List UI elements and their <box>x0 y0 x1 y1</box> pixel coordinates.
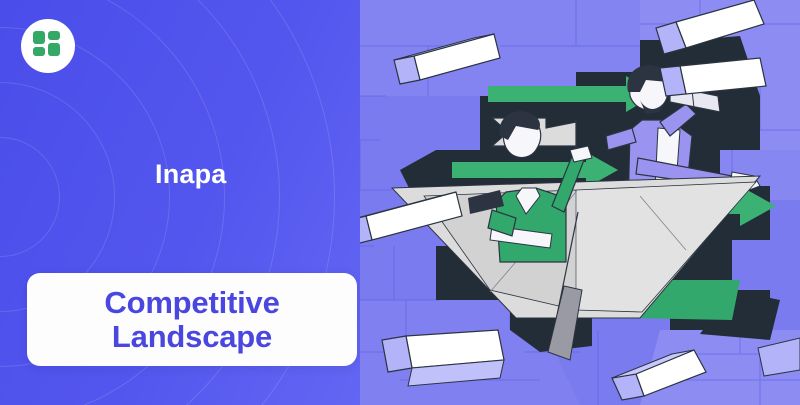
page-title: Competitive Landscape <box>104 286 279 352</box>
logo-square-bottom-left <box>33 47 45 56</box>
title-card: Competitive Landscape <box>27 273 357 366</box>
left-brand-panel: Inapa Competitive Landscape <box>0 0 360 405</box>
brand-name: Inapa <box>155 159 227 190</box>
logo-square-top-left <box>33 31 45 44</box>
page-title-line-2: Landscape <box>112 319 272 354</box>
illustration-paper-boat-breaking-wall <box>340 0 800 405</box>
brand-logo <box>21 19 75 73</box>
four-squares-grid-icon <box>33 31 63 61</box>
logo-square-bottom-right <box>48 43 60 56</box>
banner-canvas: Inapa Competitive Landscape <box>0 0 800 405</box>
logo-square-top-right <box>48 31 60 40</box>
page-title-line-1: Competitive <box>104 285 279 320</box>
